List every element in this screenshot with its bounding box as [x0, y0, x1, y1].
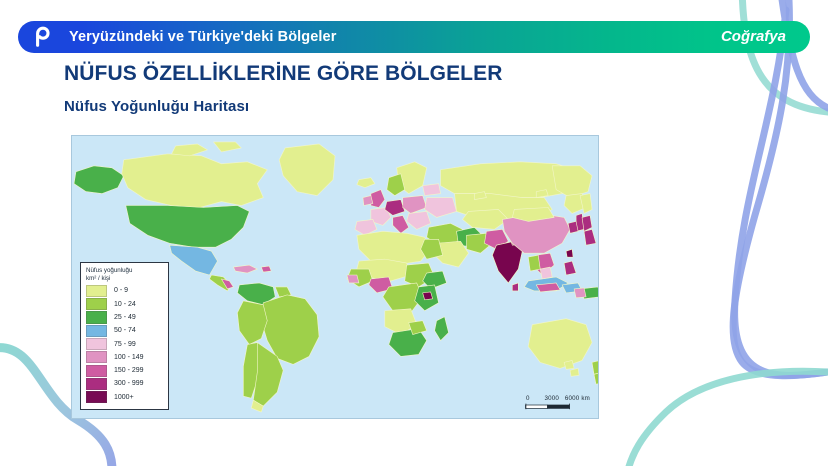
- legend-row: 150 - 299: [86, 364, 163, 377]
- page-subtitle: Nüfus Yoğunluğu Haritası: [64, 98, 249, 115]
- subject-badge: Coğrafya: [721, 21, 786, 53]
- legend-swatch: [86, 338, 107, 350]
- legend-row: 25 - 49: [86, 311, 163, 324]
- decor-curve-blue-right: [735, 0, 828, 375]
- decor-curve-teal-top: [742, 0, 828, 112]
- world-population-density-map: Nüfus yoğunluğu km² / kişi 0 - 910 - 242…: [71, 135, 599, 419]
- legend-heading-line2: km² / kişi: [86, 275, 163, 283]
- legend-swatch: [86, 298, 107, 310]
- legend-label: 100 - 149: [114, 354, 144, 361]
- scale-tick-1: 3000: [544, 395, 559, 402]
- legend-swatch: [86, 311, 107, 323]
- legend-label: 0 - 9: [114, 287, 128, 294]
- p-logo-icon: [28, 24, 54, 50]
- scale-bar-labels: 0 3000 6000 km: [525, 395, 590, 402]
- legend-label: 10 - 24: [114, 301, 136, 308]
- legend-label: 50 - 74: [114, 327, 136, 334]
- legend-row: 300 - 999: [86, 377, 163, 390]
- scale-tick-2: 6000 km: [565, 395, 590, 402]
- legend-label: 300 - 999: [114, 380, 144, 387]
- legend-label: 75 - 99: [114, 341, 136, 348]
- legend-swatch: [86, 285, 107, 297]
- scale-tick-0: 0: [526, 395, 530, 402]
- legend-row: 10 - 24: [86, 297, 163, 310]
- legend-label: 1000+: [114, 394, 134, 401]
- map-scale-bar: 0 3000 6000 km: [525, 395, 590, 410]
- legend-swatch: [86, 391, 107, 403]
- legend-heading: Nüfus yoğunluğu km² / kişi: [86, 267, 163, 282]
- legend-swatch: [86, 351, 107, 363]
- scale-bar-graphic: [525, 403, 587, 410]
- legend-rows: 0 - 910 - 2425 - 4950 - 7475 - 99100 - 1…: [86, 284, 163, 404]
- map-legend: Nüfus yoğunluğu km² / kişi 0 - 910 - 242…: [80, 262, 169, 410]
- legend-row: 1000+: [86, 391, 163, 404]
- legend-row: 100 - 149: [86, 351, 163, 364]
- decor-curve-teal-bottom: [628, 371, 828, 466]
- page-title: NÜFUS ÖZELLİKLERİNE GÖRE BÖLGELER: [64, 62, 502, 86]
- legend-row: 50 - 74: [86, 324, 163, 337]
- legend-label: 150 - 299: [114, 367, 144, 374]
- legend-row: 75 - 99: [86, 337, 163, 350]
- decor-curve-blue-long: [733, 0, 828, 376]
- legend-swatch: [86, 378, 107, 390]
- legend-row: 0 - 9: [86, 284, 163, 297]
- legend-heading-line1: Nüfus yoğunluğu: [86, 267, 163, 275]
- legend-swatch: [86, 325, 107, 337]
- legend-swatch: [86, 365, 107, 377]
- header-title: Yeryüzündeki ve Türkiye'deki Bölgeler: [69, 21, 336, 53]
- header-bar: Yeryüzündeki ve Türkiye'deki Bölgeler Co…: [18, 21, 810, 53]
- legend-label: 25 - 49: [114, 314, 136, 321]
